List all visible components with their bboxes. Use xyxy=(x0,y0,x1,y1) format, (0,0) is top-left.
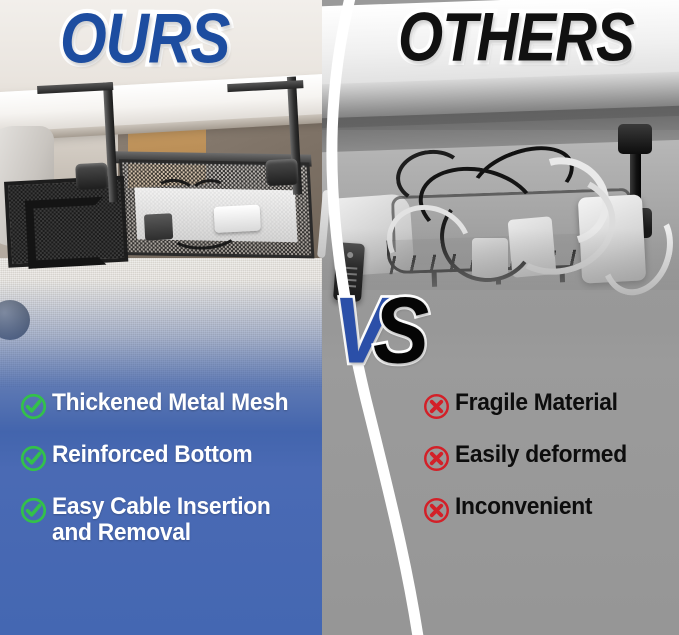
comparison-infographic: OURS OTHERS VS Thickened Metal Mesh Rein… xyxy=(0,0,679,635)
list-item: Easily deformed xyxy=(423,442,673,472)
ours-feature-list: Thickened Metal Mesh Reinforced Bottom E… xyxy=(20,390,350,568)
list-item-label-line2: and Removal xyxy=(52,520,271,546)
list-item: Reinforced Bottom xyxy=(20,442,350,472)
list-item-label: Easily deformed xyxy=(455,442,627,468)
list-item: Easy Cable Insertionand Removal xyxy=(20,494,350,546)
page-title-others: OTHERS xyxy=(398,0,634,77)
list-item: Thickened Metal Mesh xyxy=(20,390,350,420)
check-circle-icon xyxy=(20,497,47,524)
vs-badge: VS xyxy=(333,283,423,377)
list-item-label-line1: Easy Cable Insertion xyxy=(52,493,271,520)
list-item-label: Reinforced Bottom xyxy=(52,442,252,468)
list-item: Fragile Material xyxy=(423,390,673,420)
page-title-ours: OURS xyxy=(60,0,229,79)
vs-letter-s: S xyxy=(373,277,423,382)
list-item-label-multiline: Easy Cable Insertionand Removal xyxy=(52,494,271,546)
cross-circle-icon xyxy=(423,497,450,524)
check-circle-icon xyxy=(20,445,47,472)
list-item-label: Thickened Metal Mesh xyxy=(52,390,288,416)
others-feature-list: Fragile Material Easily deformed Inconve… xyxy=(423,390,673,546)
list-item-label: Inconvenient xyxy=(455,494,592,520)
cross-circle-icon xyxy=(423,393,450,420)
cross-circle-icon xyxy=(423,445,450,472)
check-circle-icon xyxy=(20,393,47,420)
list-item-label: Fragile Material xyxy=(455,390,618,416)
list-item: Inconvenient xyxy=(423,494,673,524)
